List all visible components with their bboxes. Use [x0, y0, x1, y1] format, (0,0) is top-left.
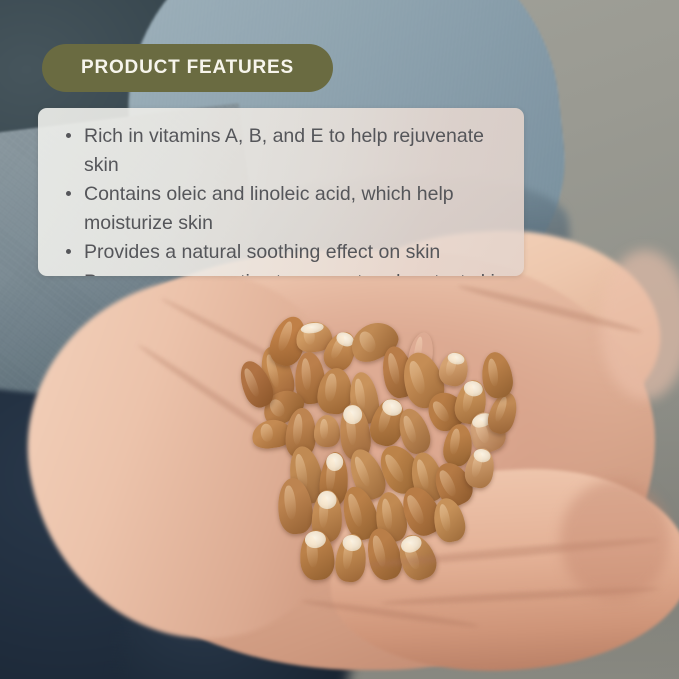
feature-panel: Rich in vitamins A, B, and E to help rej… — [38, 108, 524, 276]
bullet-dot-icon — [66, 133, 71, 138]
feature-list-item: Possesses properties to support and prot… — [64, 268, 508, 277]
feature-list-item-label: Provides a natural soothing effect on sk… — [84, 241, 440, 263]
background-photo — [0, 0, 679, 679]
bullet-dot-icon — [66, 249, 71, 254]
bullet-dot-icon — [66, 191, 71, 196]
product-features-badge: PRODUCT FEATURES — [42, 44, 333, 92]
almond — [314, 415, 340, 447]
feature-list: Rich in vitamins A, B, and E to help rej… — [38, 108, 524, 276]
feature-list-item-label: Possesses properties to support and prot… — [84, 271, 506, 277]
feature-list-item: Rich in vitamins A, B, and E to help rej… — [64, 122, 508, 179]
feature-list-item: Contains oleic and linoleic acid, which … — [64, 180, 508, 237]
feature-list-item-label: Rich in vitamins A, B, and E to help rej… — [84, 125, 484, 176]
feature-list-item: Provides a natural soothing effect on sk… — [64, 238, 508, 267]
product-features-badge-label: PRODUCT FEATURES — [81, 57, 294, 79]
knuckle-shadow — [560, 480, 670, 600]
product-feature-image: PRODUCT FEATURES Rich in vitamins A, B, … — [0, 0, 679, 679]
almond — [334, 533, 369, 584]
feature-list-item-label: Contains oleic and linoleic acid, which … — [84, 183, 454, 234]
